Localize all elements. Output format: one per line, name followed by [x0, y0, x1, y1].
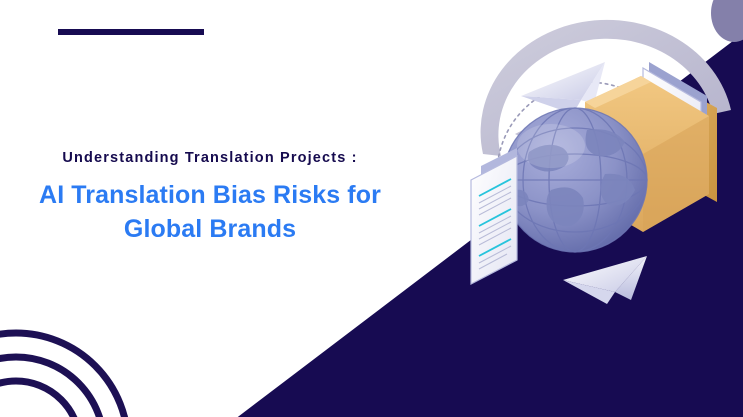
eyebrow-text: Understanding Translation Projects :: [0, 150, 420, 167]
slide-canvas: Understanding Translation Projects : AI …: [0, 0, 743, 417]
headline-line-1: AI Translation Bias Risks for: [26, 179, 394, 213]
page-title: AI Translation Bias Risks for Global Bra…: [0, 179, 420, 247]
paper-plane-bottom: [563, 256, 647, 304]
headline-line-2: Global Brands: [26, 213, 394, 247]
accent-rule: [58, 29, 204, 35]
globe: [503, 108, 647, 252]
concentric-arcs-decoration: [0, 285, 170, 417]
title-block: Understanding Translation Projects : AI …: [0, 150, 420, 247]
global-translation-illustration: [455, 0, 743, 324]
